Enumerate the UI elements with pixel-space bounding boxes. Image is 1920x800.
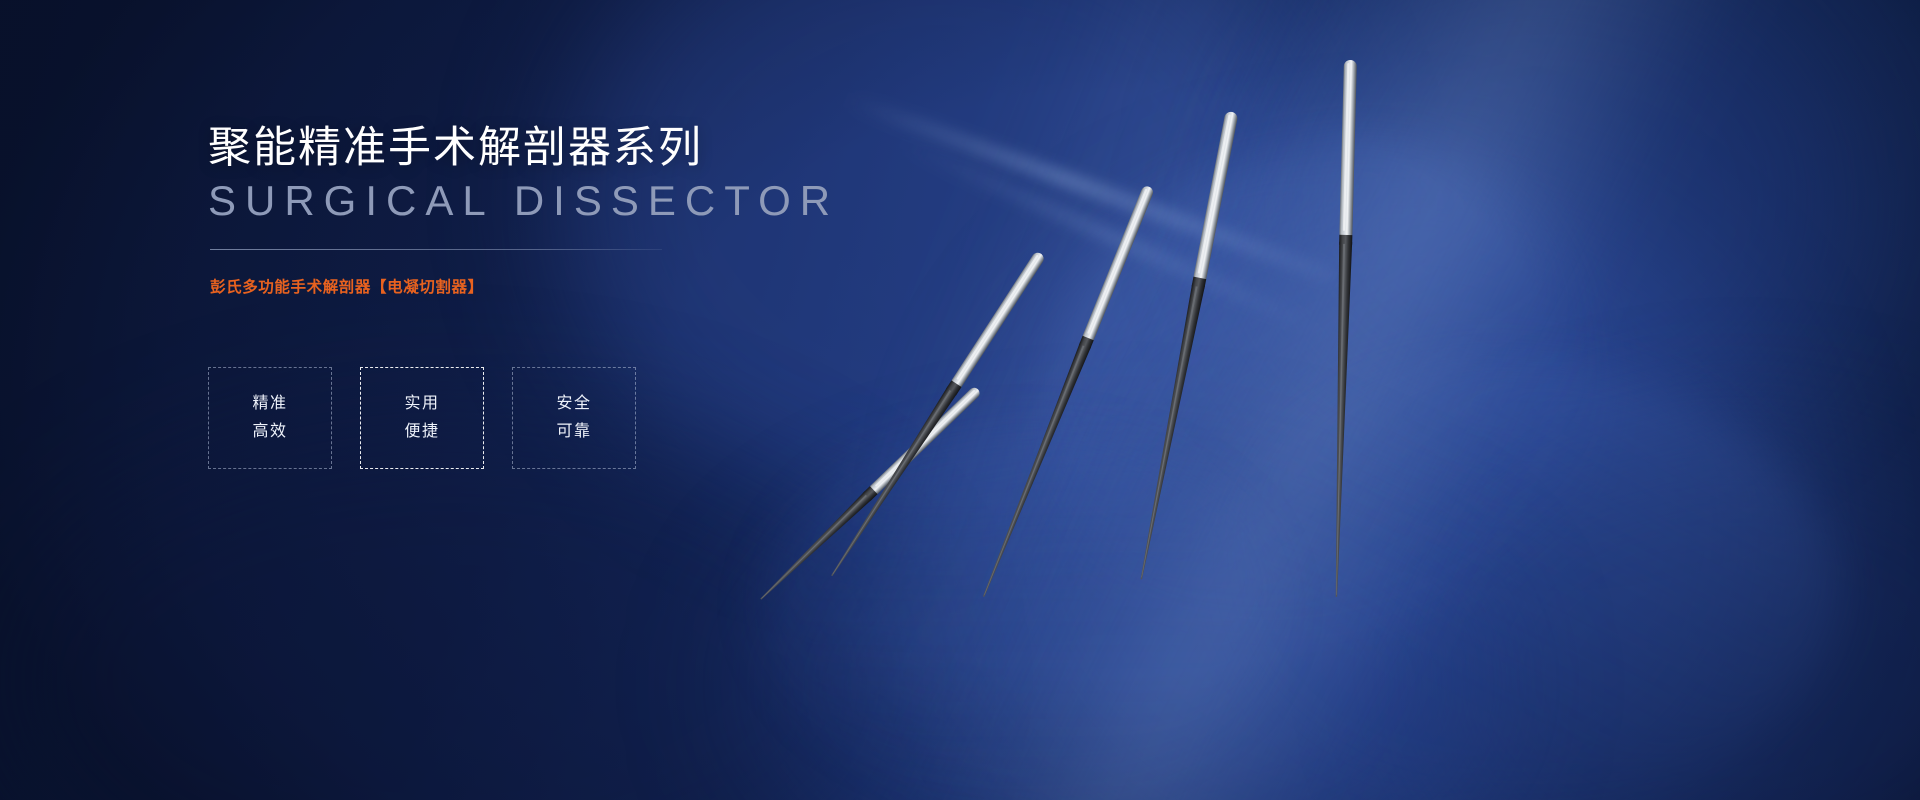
dissector-probe-4 — [1131, 108, 1243, 583]
product-name-label: 彭氏多功能手术解剖器【电凝切割器】 — [210, 277, 484, 299]
instrument-group — [940, 0, 1440, 800]
feature-badge-2: 实用便捷 — [360, 367, 484, 469]
feature-badge-1: 精准高效 — [208, 367, 332, 469]
feature-badge-list: 精准高效实用便捷安全可靠 — [208, 367, 636, 469]
feature-badge-line2: 可靠 — [556, 418, 591, 446]
hero-banner: 聚能精准手术解剖器系列 SURGICAL DISSECTOR 彭氏多功能手术解剖… — [0, 0, 1920, 800]
banner-content: 聚能精准手术解剖器系列 SURGICAL DISSECTOR 彭氏多功能手术解剖… — [208, 0, 908, 800]
feature-badge-line1: 安全 — [556, 390, 591, 418]
feature-badge-3: 安全可靠 — [512, 367, 636, 469]
background-glow-5 — [1420, 430, 1920, 800]
feature-badge-line2: 便捷 — [404, 418, 439, 446]
title-divider — [210, 249, 662, 250]
feature-badge-line1: 精准 — [252, 390, 287, 418]
feature-badge-line2: 高效 — [252, 418, 287, 446]
feature-badge-line1: 实用 — [404, 390, 439, 418]
page-subtitle-english: SURGICAL DISSECTOR — [208, 176, 839, 226]
page-title: 聚能精准手术解剖器系列 — [208, 124, 703, 174]
dissector-probe-5 — [1326, 58, 1361, 599]
dissector-probe-3 — [974, 181, 1160, 602]
